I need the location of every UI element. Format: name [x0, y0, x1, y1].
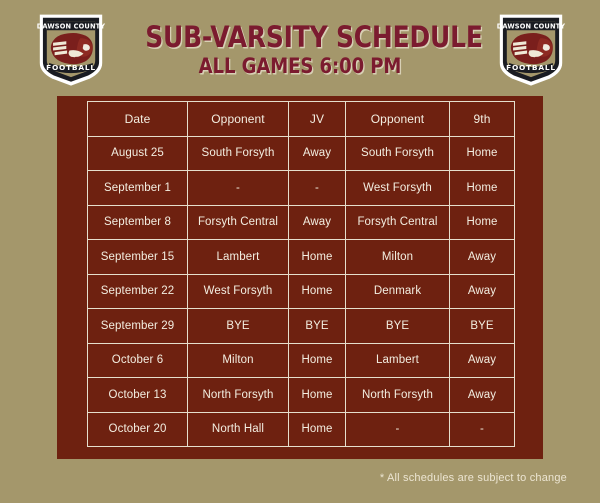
schedule-table: Date Opponent JV Opponent 9th August 25 …	[87, 101, 515, 447]
cell-ninth-homeaway: Home	[450, 136, 515, 171]
title-block: SUB-VARSITY SCHEDULE ALL GAMES 6:00 PM	[120, 22, 480, 78]
cell-date: September 29	[88, 309, 188, 344]
cell-jv-opponent: North Forsyth	[188, 378, 289, 413]
cell-jv-opponent: Lambert	[188, 240, 289, 275]
cell-ninth-opponent: North Forsyth	[346, 378, 450, 413]
cell-ninth-homeaway: Home	[450, 171, 515, 206]
cell-ninth-homeaway: Home	[450, 205, 515, 240]
schedule-table-body: August 25 South Forsyth Away South Forsy…	[88, 136, 515, 447]
cell-jv-homeaway: Home	[289, 343, 346, 378]
cell-ninth-opponent: BYE	[346, 309, 450, 344]
cell-ninth-homeaway: Away	[450, 378, 515, 413]
cell-ninth-opponent: Milton	[346, 240, 450, 275]
cell-ninth-opponent: Denmark	[346, 274, 450, 309]
svg-text:FOOTBALL: FOOTBALL	[46, 63, 96, 72]
cell-jv-opponent: Forsyth Central	[188, 205, 289, 240]
cell-jv-homeaway: Home	[289, 274, 346, 309]
cell-date: October 13	[88, 378, 188, 413]
table-row: August 25 South Forsyth Away South Forsy…	[88, 136, 515, 171]
table-row: October 13 North Forsyth Home North Fors…	[88, 378, 515, 413]
shield-logo-icon: DAWSON COUNTY FOOTBALL	[492, 10, 570, 88]
table-row: October 6 Milton Home Lambert Away	[88, 343, 515, 378]
svg-text:DAWSON COUNTY: DAWSON COUNTY	[497, 23, 566, 31]
cell-ninth-opponent: -	[346, 412, 450, 447]
footer-note: * All schedules are subject to change	[380, 472, 567, 484]
cell-jv-opponent: BYE	[188, 309, 289, 344]
table-row: September 1 - - West Forsyth Home	[88, 171, 515, 206]
cell-jv-homeaway: Away	[289, 136, 346, 171]
table-row: September 29 BYE BYE BYE BYE	[88, 309, 515, 344]
table-row: September 22 West Forsyth Home Denmark A…	[88, 274, 515, 309]
table-header-row: Date Opponent JV Opponent 9th	[88, 102, 515, 137]
cell-ninth-homeaway: Away	[450, 343, 515, 378]
page-subtitle: ALL GAMES 6:00 PM	[145, 54, 455, 78]
cell-ninth-homeaway: Away	[450, 274, 515, 309]
cell-date: October 20	[88, 412, 188, 447]
svg-text:FOOTBALL: FOOTBALL	[506, 63, 556, 72]
cell-ninth-opponent: Lambert	[346, 343, 450, 378]
page-header: DAWSON COUNTY FOOTBALL SUB-VARSITY SCHED…	[0, 0, 600, 96]
table-row: September 15 Lambert Home Milton Away	[88, 240, 515, 275]
cell-jv-opponent: South Forsyth	[188, 136, 289, 171]
cell-jv-opponent: -	[188, 171, 289, 206]
cell-date: August 25	[88, 136, 188, 171]
svg-text:DAWSON COUNTY: DAWSON COUNTY	[37, 23, 106, 31]
column-header-date: Date	[88, 102, 188, 137]
cell-jv-opponent: West Forsyth	[188, 274, 289, 309]
table-row: September 8 Forsyth Central Away Forsyth…	[88, 205, 515, 240]
cell-jv-homeaway: Home	[289, 240, 346, 275]
cell-jv-opponent: Milton	[188, 343, 289, 378]
cell-jv-homeaway: -	[289, 171, 346, 206]
column-header-opponent-jv: Opponent	[188, 102, 289, 137]
table-row: October 20 North Hall Home - -	[88, 412, 515, 447]
cell-jv-homeaway: Away	[289, 205, 346, 240]
cell-jv-opponent: North Hall	[188, 412, 289, 447]
cell-ninth-opponent: Forsyth Central	[346, 205, 450, 240]
cell-jv-homeaway: Home	[289, 412, 346, 447]
cell-date: September 8	[88, 205, 188, 240]
team-logo-left: DAWSON COUNTY FOOTBALL	[32, 10, 110, 88]
cell-jv-homeaway: Home	[289, 378, 346, 413]
cell-date: September 22	[88, 274, 188, 309]
cell-date: October 6	[88, 343, 188, 378]
cell-jv-homeaway: BYE	[289, 309, 346, 344]
cell-ninth-homeaway: Away	[450, 240, 515, 275]
cell-date: September 15	[88, 240, 188, 275]
cell-ninth-homeaway: -	[450, 412, 515, 447]
cell-ninth-opponent: West Forsyth	[346, 171, 450, 206]
column-header-9th: 9th	[450, 102, 515, 137]
cell-date: September 1	[88, 171, 188, 206]
column-header-opponent-9th: Opponent	[346, 102, 450, 137]
shield-logo-icon: DAWSON COUNTY FOOTBALL	[32, 10, 110, 88]
team-logo-right: DAWSON COUNTY FOOTBALL	[492, 10, 570, 88]
cell-ninth-homeaway: BYE	[450, 309, 515, 344]
column-header-jv: JV	[289, 102, 346, 137]
cell-ninth-opponent: South Forsyth	[346, 136, 450, 171]
page-title: SUB-VARSITY SCHEDULE	[145, 22, 455, 53]
